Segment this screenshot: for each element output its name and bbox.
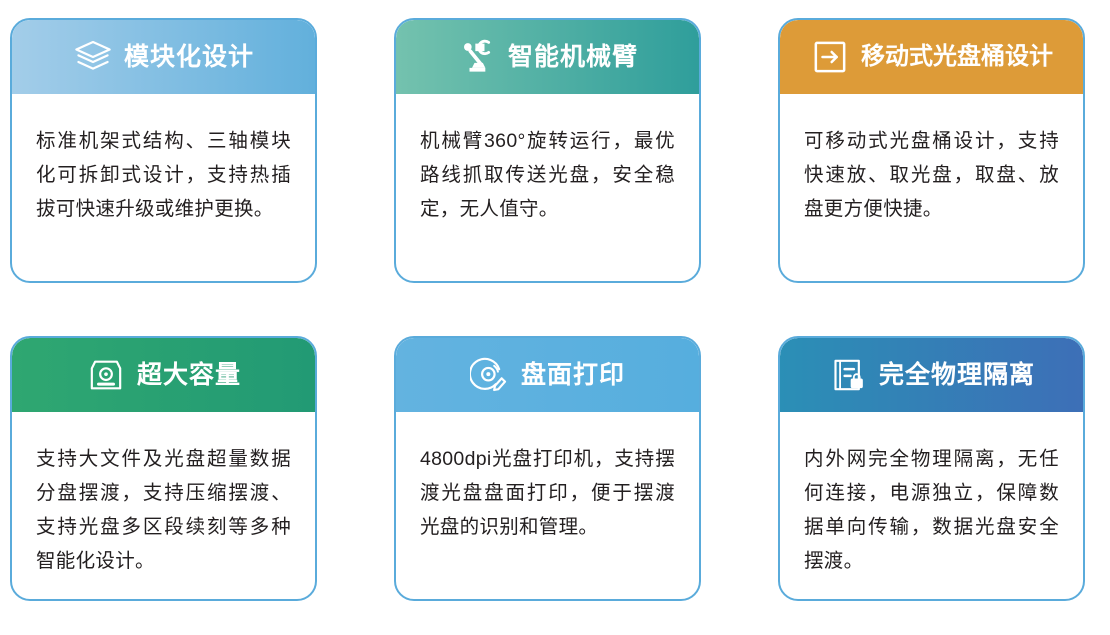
card-description: 内外网完全物理隔离，无任何连接，电源独立，保障数据单向传输，数据光盘安全摆渡。 [804, 442, 1059, 579]
feature-cards-grid: 模块化设计 标准机架式结构、三轴模块化可拆卸式设计，支持热插拔可快速升级或维护更… [10, 18, 1100, 601]
card-header: 超大容量 [12, 338, 315, 412]
arrow-right-box-icon [810, 37, 850, 77]
storage-box-icon [86, 355, 126, 395]
card-body: 机械臂360°旋转运行，最优路线抓取传送光盘，安全稳定，无人值守。 [396, 94, 699, 281]
card-body: 标准机架式结构、三轴模块化可拆卸式设计，支持热插拔可快速升级或维护更换。 [12, 94, 315, 281]
feature-cards-board: 模块化设计 标准机架式结构、三轴模块化可拆卸式设计，支持热插拔可快速升级或维护更… [0, 0, 1110, 635]
feature-card-smart-robotic-arm[interactable]: 智能机械臂 机械臂360°旋转运行，最优路线抓取传送光盘，安全稳定，无人值守。 [394, 18, 701, 283]
card-header: 盘面打印 [396, 338, 699, 412]
card-description: 标准机架式结构、三轴模块化可拆卸式设计，支持热插拔可快速升级或维护更换。 [36, 124, 291, 226]
card-description: 可移动式光盘桶设计，支持快速放、取光盘，取盘、放盘更方便快捷。 [804, 124, 1059, 226]
card-description: 4800dpi光盘打印机，支持摆渡光盘盘面打印，便于摆渡光盘的识别和管理。 [420, 442, 675, 544]
card-title: 超大容量 [137, 363, 241, 388]
card-description: 支持大文件及光盘超量数据分盘摆渡，支持压缩摆渡、支持光盘多区段续刻等多种智能化设… [36, 442, 291, 579]
card-body: 可移动式光盘桶设计，支持快速放、取光盘，取盘、放盘更方便快捷。 [780, 94, 1083, 281]
card-title: 完全物理隔离 [879, 363, 1035, 388]
disc-pen-icon [470, 355, 510, 395]
card-body: 内外网完全物理隔离，无任何连接，电源独立，保障数据单向传输，数据光盘安全摆渡。 [780, 412, 1083, 599]
card-header: 模块化设计 [12, 20, 315, 94]
layers-stack-icon [73, 37, 113, 77]
card-title: 盘面打印 [521, 363, 625, 388]
robotic-arm-icon [457, 37, 497, 77]
feature-card-modular-design[interactable]: 模块化设计 标准机架式结构、三轴模块化可拆卸式设计，支持热插拔可快速升级或维护更… [10, 18, 317, 283]
card-header: 移动式光盘桶设计 [780, 20, 1083, 94]
card-description: 机械臂360°旋转运行，最优路线抓取传送光盘，安全稳定，无人值守。 [420, 124, 675, 226]
feature-card-disc-surface-printing[interactable]: 盘面打印 4800dpi光盘打印机，支持摆渡光盘盘面打印，便于摆渡光盘的识别和管… [394, 336, 701, 601]
card-body: 支持大文件及光盘超量数据分盘摆渡，支持压缩摆渡、支持光盘多区段续刻等多种智能化设… [12, 412, 315, 599]
card-body: 4800dpi光盘打印机，支持摆渡光盘盘面打印，便于摆渡光盘的识别和管理。 [396, 412, 699, 599]
card-title: 移动式光盘桶设计 [861, 45, 1053, 69]
feature-card-full-physical-isolation[interactable]: 完全物理隔离 内外网完全物理隔离，无任何连接，电源独立，保障数据单向传输，数据光… [778, 336, 1085, 601]
feature-card-large-capacity[interactable]: 超大容量 支持大文件及光盘超量数据分盘摆渡，支持压缩摆渡、支持光盘多区段续刻等多… [10, 336, 317, 601]
card-title: 模块化设计 [124, 45, 254, 70]
card-header: 完全物理隔离 [780, 338, 1083, 412]
feature-card-mobile-disc-bin[interactable]: 移动式光盘桶设计 可移动式光盘桶设计，支持快速放、取光盘，取盘、放盘更方便快捷。 [778, 18, 1085, 283]
card-header: 智能机械臂 [396, 20, 699, 94]
document-lock-icon [828, 355, 868, 395]
card-title: 智能机械臂 [508, 45, 638, 70]
